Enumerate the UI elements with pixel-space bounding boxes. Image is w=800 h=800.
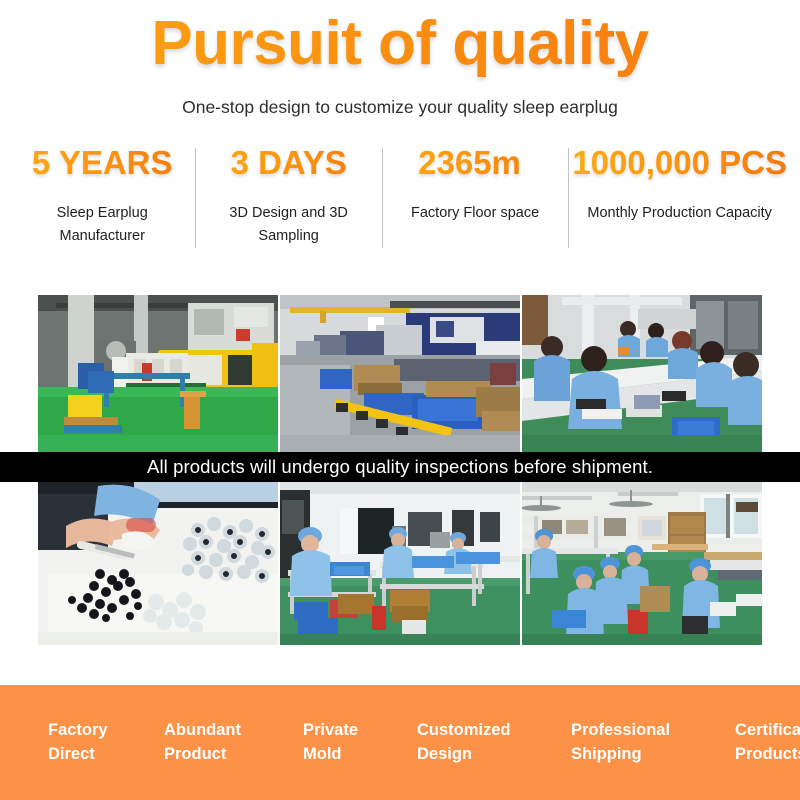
stat-value: 2365m2 [386, 144, 564, 182]
photo-injection-molding-workshop-image [38, 295, 278, 452]
page-title: Pursuit of quality [0, 8, 800, 83]
stat-item-floor-space: 2365m2 Factory Floor space [382, 144, 568, 224]
footer-item-factory-direct[interactable]: Factory Direct [48, 719, 164, 767]
stat-value: 3 DAYS [199, 144, 377, 182]
photo-gallery: All products will undergo quality inspec… [38, 295, 762, 645]
photo-assembly-line-workers-image [522, 295, 762, 452]
photo-injection-molding-workshop [38, 295, 278, 452]
hero-section: Pursuit of quality One-stop design to cu… [0, 0, 800, 118]
stat-description: Monthly Production Capacity [572, 202, 787, 224]
footer-item-abundant-product[interactable]: Abundant Product [164, 719, 303, 767]
photo-molding-machine-line-image [280, 295, 520, 452]
photo-row-bottom [38, 482, 762, 645]
photo-production-workshop-overview [522, 482, 762, 645]
stat-item-years: 5 YEARS Sleep Earplug Manufacturer [9, 144, 195, 247]
quality-inspection-banner: All products will undergo quality inspec… [0, 452, 800, 482]
photo-cleanroom-packing-area-image [280, 482, 520, 645]
photo-molding-machine-line [280, 295, 520, 452]
photo-assembly-line-workers [522, 295, 762, 452]
stats-row: 5 YEARS Sleep Earplug Manufacturer 3 DAY… [9, 144, 791, 247]
photo-earplug-sorting-closeup-image [38, 482, 278, 645]
photo-earplug-sorting-closeup [38, 482, 278, 645]
stat-description: Sleep Earplug Manufacturer [13, 202, 191, 247]
photo-production-workshop-overview-image [522, 482, 762, 645]
footer-item-customized-design[interactable]: Customized Design [417, 719, 571, 767]
stat-value: 1000,000 PCS [572, 144, 787, 182]
footer-item-certificated-products[interactable]: Certificated Products [735, 719, 800, 767]
footer-item-private-mold[interactable]: Private Mold [303, 719, 417, 767]
footer-item-professional-shipping[interactable]: Professional Shipping [571, 719, 735, 767]
stat-item-capacity: 1000,000 PCS Monthly Production Capacity [568, 144, 791, 224]
photo-cleanroom-packing-area [280, 482, 520, 645]
stat-description: 3D Design and 3D Sampling [199, 202, 377, 247]
quality-inspection-banner-text: All products will undergo quality inspec… [147, 456, 653, 478]
stat-value-number: 2365m [418, 144, 521, 181]
feature-footer-inner: Factory Direct Abundant Product Private … [20, 719, 780, 767]
feature-footer-bar: Factory Direct Abundant Product Private … [0, 685, 800, 800]
stat-value: 5 YEARS [13, 144, 191, 182]
stat-value-superscript: 2 [521, 134, 532, 156]
photo-row-top [38, 295, 762, 452]
stat-item-days: 3 DAYS 3D Design and 3D Sampling [195, 144, 381, 247]
page-subtitle: One-stop design to customize your qualit… [0, 97, 800, 118]
stat-description: Factory Floor space [386, 202, 564, 224]
